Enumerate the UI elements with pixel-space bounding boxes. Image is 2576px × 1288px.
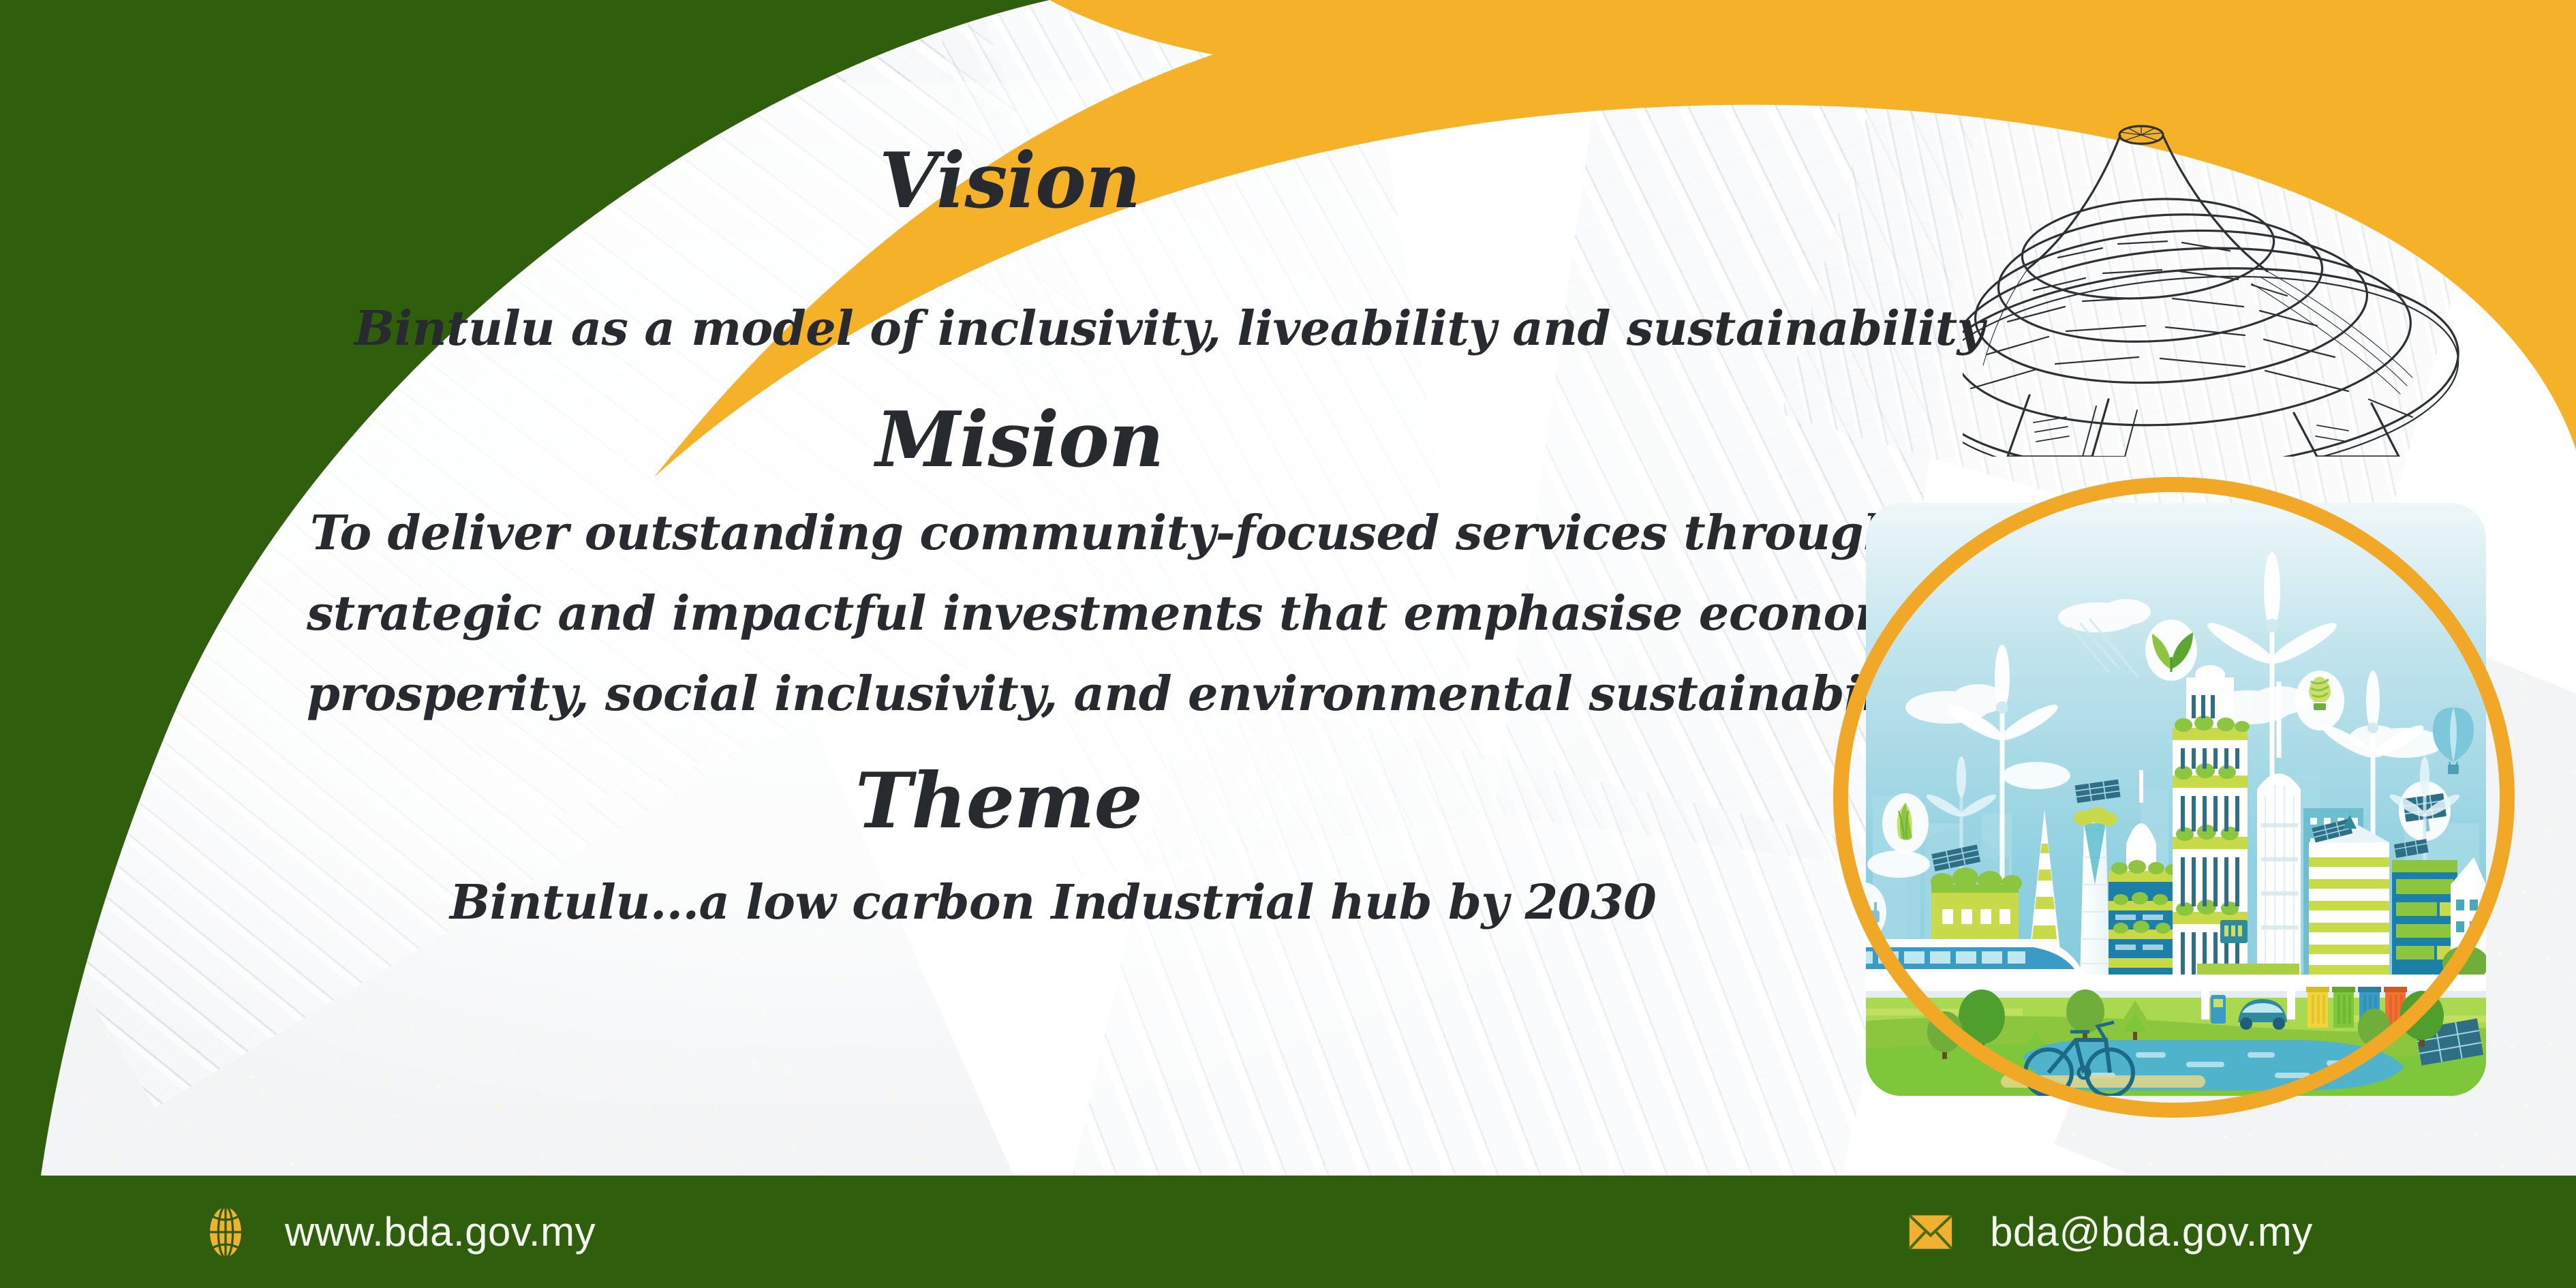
mission-statement-line-1: To deliver outstanding community-focused… — [310, 504, 1897, 561]
eco-icon-leaf — [2145, 619, 2197, 681]
eco-icon-corn — [1882, 793, 1929, 853]
envelope-icon — [1903, 1204, 1959, 1260]
theme-statement: Bintulu...a low carbon Industrial hub by… — [450, 874, 1656, 930]
vision-statement: Bintulu as a model of inclusivity, livea… — [354, 300, 1984, 356]
footer-bar: www.bda.gov.my bda@bda.gov.my — [0, 1176, 2576, 1288]
banner: Vision Bintulu as a model of inclusivity… — [0, 0, 2576, 1288]
eco-city-image — [1866, 503, 2486, 1096]
mission-heading: Mision — [876, 395, 1163, 485]
building-lime-striped — [2309, 815, 2389, 980]
eco-icon-bulb — [2295, 671, 2344, 731]
footer-website[interactable]: www.bda.gov.my — [198, 1204, 596, 1260]
theme-heading: Theme — [855, 756, 1142, 846]
eco-city-illustration — [1833, 477, 2515, 1118]
building-terraced-blue — [2109, 860, 2182, 980]
mission-statement-line-2: strategic and impactful investments that… — [307, 585, 1952, 641]
footer-email-label[interactable]: bda@bda.gov.my — [1990, 1208, 2313, 1255]
text-content: Vision Bintulu as a model of inclusivity… — [0, 0, 1745, 1176]
vision-heading: Vision — [879, 136, 1140, 226]
footer-email[interactable]: bda@bda.gov.my — [1903, 1204, 2313, 1260]
globe-icon — [198, 1204, 254, 1260]
mission-statement-line-3: prosperity, social inclusivity, and envi… — [307, 665, 1946, 722]
cone-building-sketch — [1963, 102, 2549, 457]
billboard — [2220, 920, 2248, 943]
footer-website-label[interactable]: www.bda.gov.my — [285, 1208, 596, 1255]
